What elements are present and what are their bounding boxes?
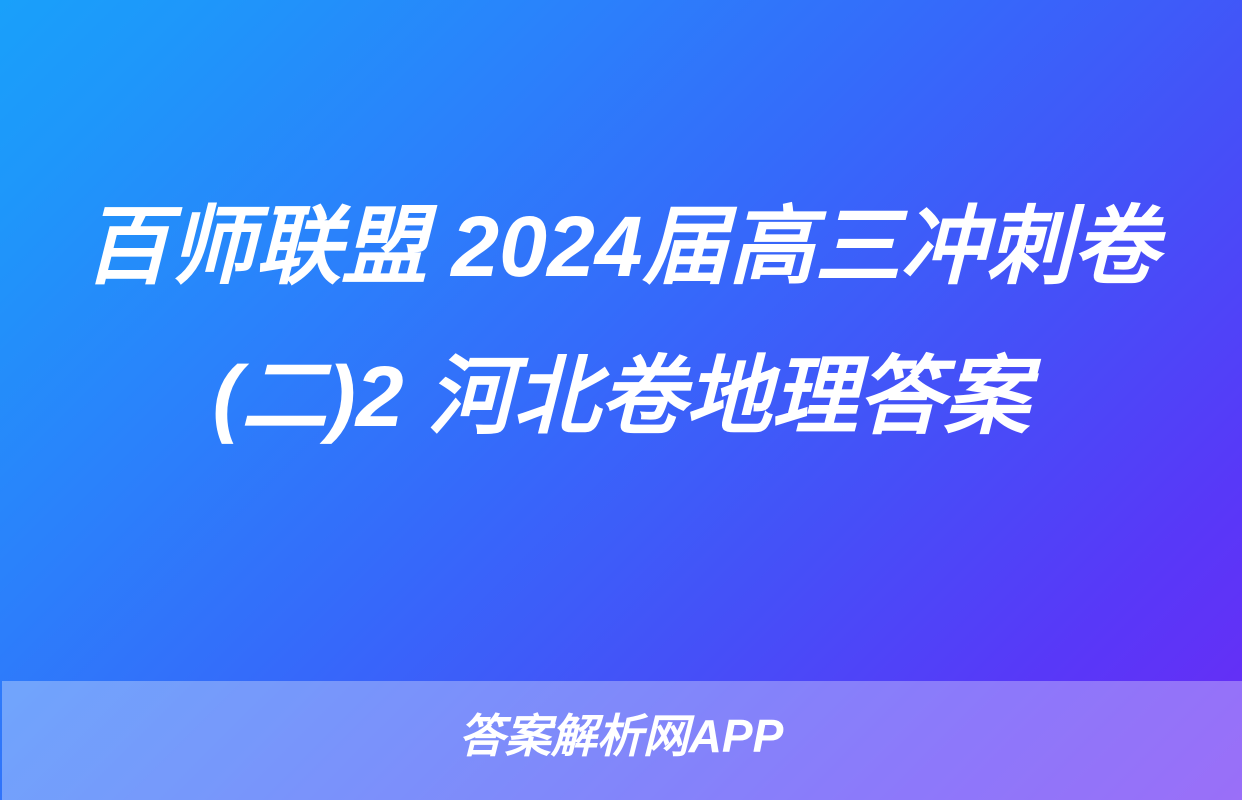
watermark-brand-text: 答案解析网APP (0, 704, 1242, 768)
page-title: 百师联盟 2024届高三冲刺卷(二)2 河北卷地理答案 (80, 172, 1162, 472)
poster-canvas: 百师联盟 2024届高三冲刺卷(二)2 河北卷地理答案 答案解析网APP (0, 0, 1242, 800)
